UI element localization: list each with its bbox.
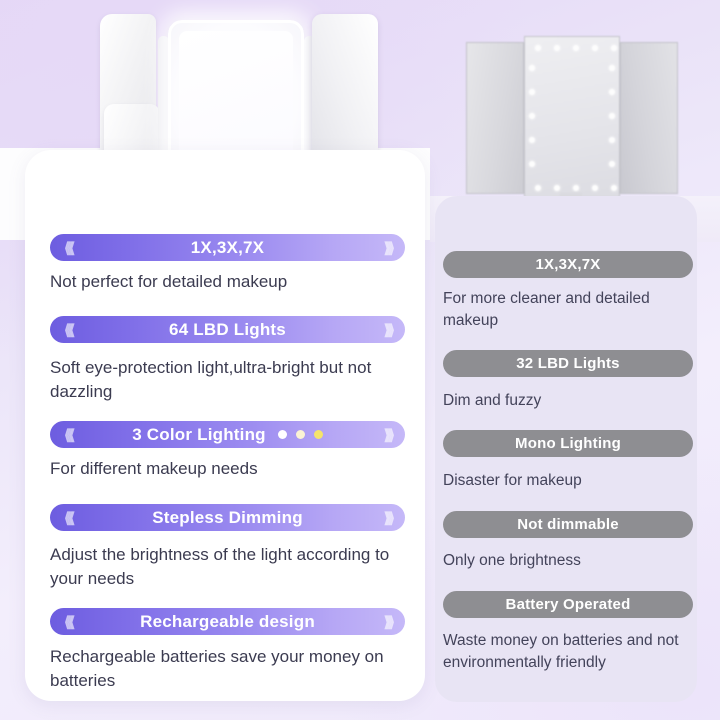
- pro-badge-label: 64 LBD Lights: [169, 320, 286, 340]
- competitor-led-bulb-icon: [609, 161, 615, 167]
- chevron-left-icon: ⟨⟨⟨⟨: [64, 613, 71, 631]
- con-badge-magnification: 1X,3X,7X: [443, 251, 693, 278]
- pro-description-magnification: Not perfect for detailed makeup: [50, 270, 410, 294]
- con-description-color-lighting: Disaster for makeup: [443, 470, 693, 492]
- competitor-led-bulb-icon: [609, 113, 615, 119]
- con-badge-led-count: 32 LBD Lights: [443, 350, 693, 377]
- pro-description-dimming: Adjust the brightness of the light accor…: [50, 543, 410, 591]
- color-dot-3: [314, 430, 323, 439]
- pro-badge-label: 3 Color Lighting: [132, 425, 266, 445]
- competitor-led-bulb-icon: [573, 185, 579, 191]
- con-description-dimming: Only one brightness: [443, 550, 693, 572]
- competitor-led-bulb-icon: [529, 161, 535, 167]
- chevron-right-icon: ⟩⟩⟩⟩: [384, 321, 391, 339]
- competitor-led-bulb-icon: [611, 45, 617, 51]
- con-badge-label: Not dimmable: [517, 516, 619, 533]
- pro-description-led-count: Soft eye-protection light,ultra-bright b…: [50, 356, 410, 404]
- competitor-led-bulb-icon: [529, 89, 535, 95]
- chevron-right-icon: ⟩⟩⟩⟩: [384, 426, 391, 444]
- pro-badge-magnification: ⟨⟨⟨⟨1X,3X,7X⟩⟩⟩⟩: [50, 234, 405, 261]
- color-dot-2: [296, 430, 305, 439]
- competitor-led-bulb-icon: [609, 137, 615, 143]
- competitor-led-bulb-icon: [592, 45, 598, 51]
- con-badge-color-lighting: Mono Lighting: [443, 430, 693, 457]
- competitor-led-bulb-icon: [573, 45, 579, 51]
- con-badge-label: 1X,3X,7X: [536, 256, 601, 273]
- competitor-product-image: [460, 22, 690, 222]
- competitor-led-bulb-icon: [529, 113, 535, 119]
- chevron-left-icon: ⟨⟨⟨⟨: [64, 509, 71, 527]
- con-badge-dimming: Not dimmable: [443, 511, 693, 538]
- competitor-led-bulb-icon: [554, 45, 560, 51]
- color-temperature-dots: [278, 430, 323, 439]
- pro-badge-label: Stepless Dimming: [152, 508, 303, 528]
- chevron-left-icon: ⟨⟨⟨⟨: [64, 426, 71, 444]
- chevron-right-icon: ⟩⟩⟩⟩: [384, 239, 391, 257]
- pro-description-color-lighting: For different makeup needs: [50, 457, 410, 481]
- pro-badge-led-count: ⟨⟨⟨⟨64 LBD Lights⟩⟩⟩⟩: [50, 316, 405, 343]
- chevron-right-icon: ⟩⟩⟩⟩: [384, 509, 391, 527]
- chevron-right-icon: ⟩⟩⟩⟩: [384, 613, 391, 631]
- pro-badge-dimming: ⟨⟨⟨⟨Stepless Dimming⟩⟩⟩⟩: [50, 504, 405, 531]
- pro-badge-label: 1X,3X,7X: [191, 238, 264, 258]
- competitor-mirror-right-wing: [620, 42, 678, 194]
- competitor-led-bulb-icon: [535, 185, 541, 191]
- pro-badge-label: Rechargeable design: [140, 612, 315, 632]
- competitor-led-bulb-icon: [609, 65, 615, 71]
- competitor-led-bulb-icon: [529, 65, 535, 71]
- competitor-led-bulb-icon: [529, 137, 535, 143]
- pro-badge-color-lighting: ⟨⟨⟨⟨3 Color Lighting⟩⟩⟩⟩: [50, 421, 405, 448]
- pro-description-power: Rechargeable batteries save your money o…: [50, 645, 410, 693]
- con-badge-label: 32 LBD Lights: [516, 355, 619, 372]
- con-badge-power: Battery Operated: [443, 591, 693, 618]
- con-description-power: Waste money on batteries and not environ…: [443, 630, 693, 674]
- competitor-mirror-center-panel: [524, 36, 620, 198]
- competitor-led-bulb-icon: [609, 89, 615, 95]
- color-dot-1: [278, 430, 287, 439]
- competitor-led-bulb-icon: [554, 185, 560, 191]
- competitor-led-bulb-icon: [611, 185, 617, 191]
- con-description-magnification: For more cleaner and detailed makeup: [443, 288, 693, 332]
- con-badge-label: Battery Operated: [506, 596, 631, 613]
- competitor-led-bulb-icon: [592, 185, 598, 191]
- chevron-left-icon: ⟨⟨⟨⟨: [64, 239, 71, 257]
- con-badge-label: Mono Lighting: [515, 435, 621, 452]
- competitor-mirror-left-wing: [466, 42, 524, 194]
- con-description-led-count: Dim and fuzzy: [443, 390, 693, 412]
- pro-badge-power: ⟨⟨⟨⟨Rechargeable design⟩⟩⟩⟩: [50, 608, 405, 635]
- chevron-left-icon: ⟨⟨⟨⟨: [64, 321, 71, 339]
- competitor-led-bulb-icon: [535, 45, 541, 51]
